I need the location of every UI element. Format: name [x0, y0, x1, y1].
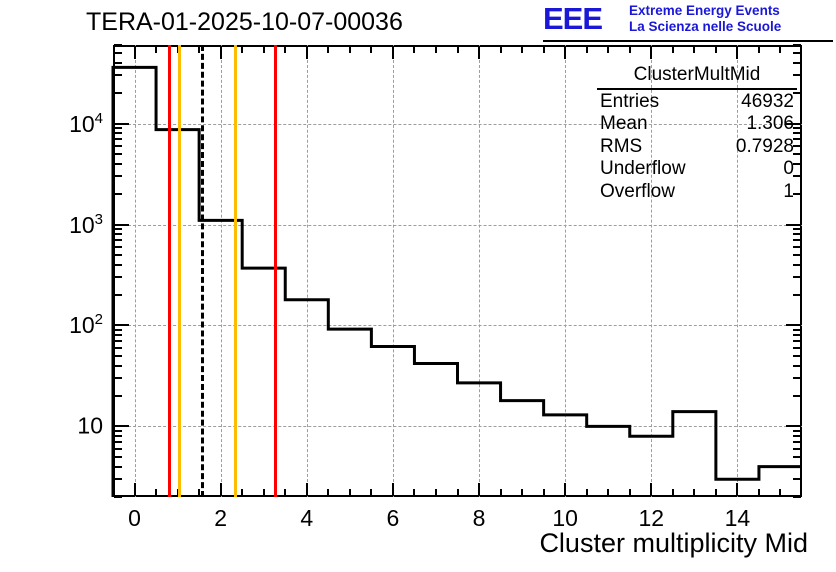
marker-line-mean-line	[201, 45, 204, 497]
stats-row: Entries46932	[597, 91, 797, 114]
stats-row-value: 1.306	[746, 113, 794, 136]
marker-line-lower-orange-cut	[178, 45, 181, 497]
stats-row: Overflow1	[597, 181, 797, 204]
stats-box: ClusterMultMid Entries46932Mean1.306RMS0…	[597, 64, 797, 203]
stats-row-value: 0	[783, 158, 794, 181]
stats-row: RMS0.7928	[597, 136, 797, 159]
x-axis-title: Cluster multiplicity Mid	[539, 528, 808, 559]
stats-row: Mean1.306	[597, 113, 797, 136]
stats-row-key: Entries	[600, 91, 659, 114]
marker-line-upper-red-cut	[274, 45, 277, 497]
marker-line-lower-red-cut	[168, 45, 171, 497]
stats-row-key: Mean	[600, 113, 648, 136]
marker-line-upper-orange-cut	[234, 45, 237, 497]
stats-row-value: 1	[783, 181, 794, 204]
stats-row-value: 0.7928	[736, 136, 794, 159]
stats-row: Underflow0	[597, 158, 797, 181]
stats-row-value: 46932	[741, 91, 794, 114]
stats-box-rows: Entries46932Mean1.306RMS0.7928Underflow0…	[597, 91, 797, 204]
stats-row-key: Underflow	[600, 158, 686, 181]
stats-row-key: Overflow	[600, 181, 675, 204]
stats-row-key: RMS	[600, 136, 642, 159]
stats-box-title: ClusterMultMid	[597, 64, 797, 90]
